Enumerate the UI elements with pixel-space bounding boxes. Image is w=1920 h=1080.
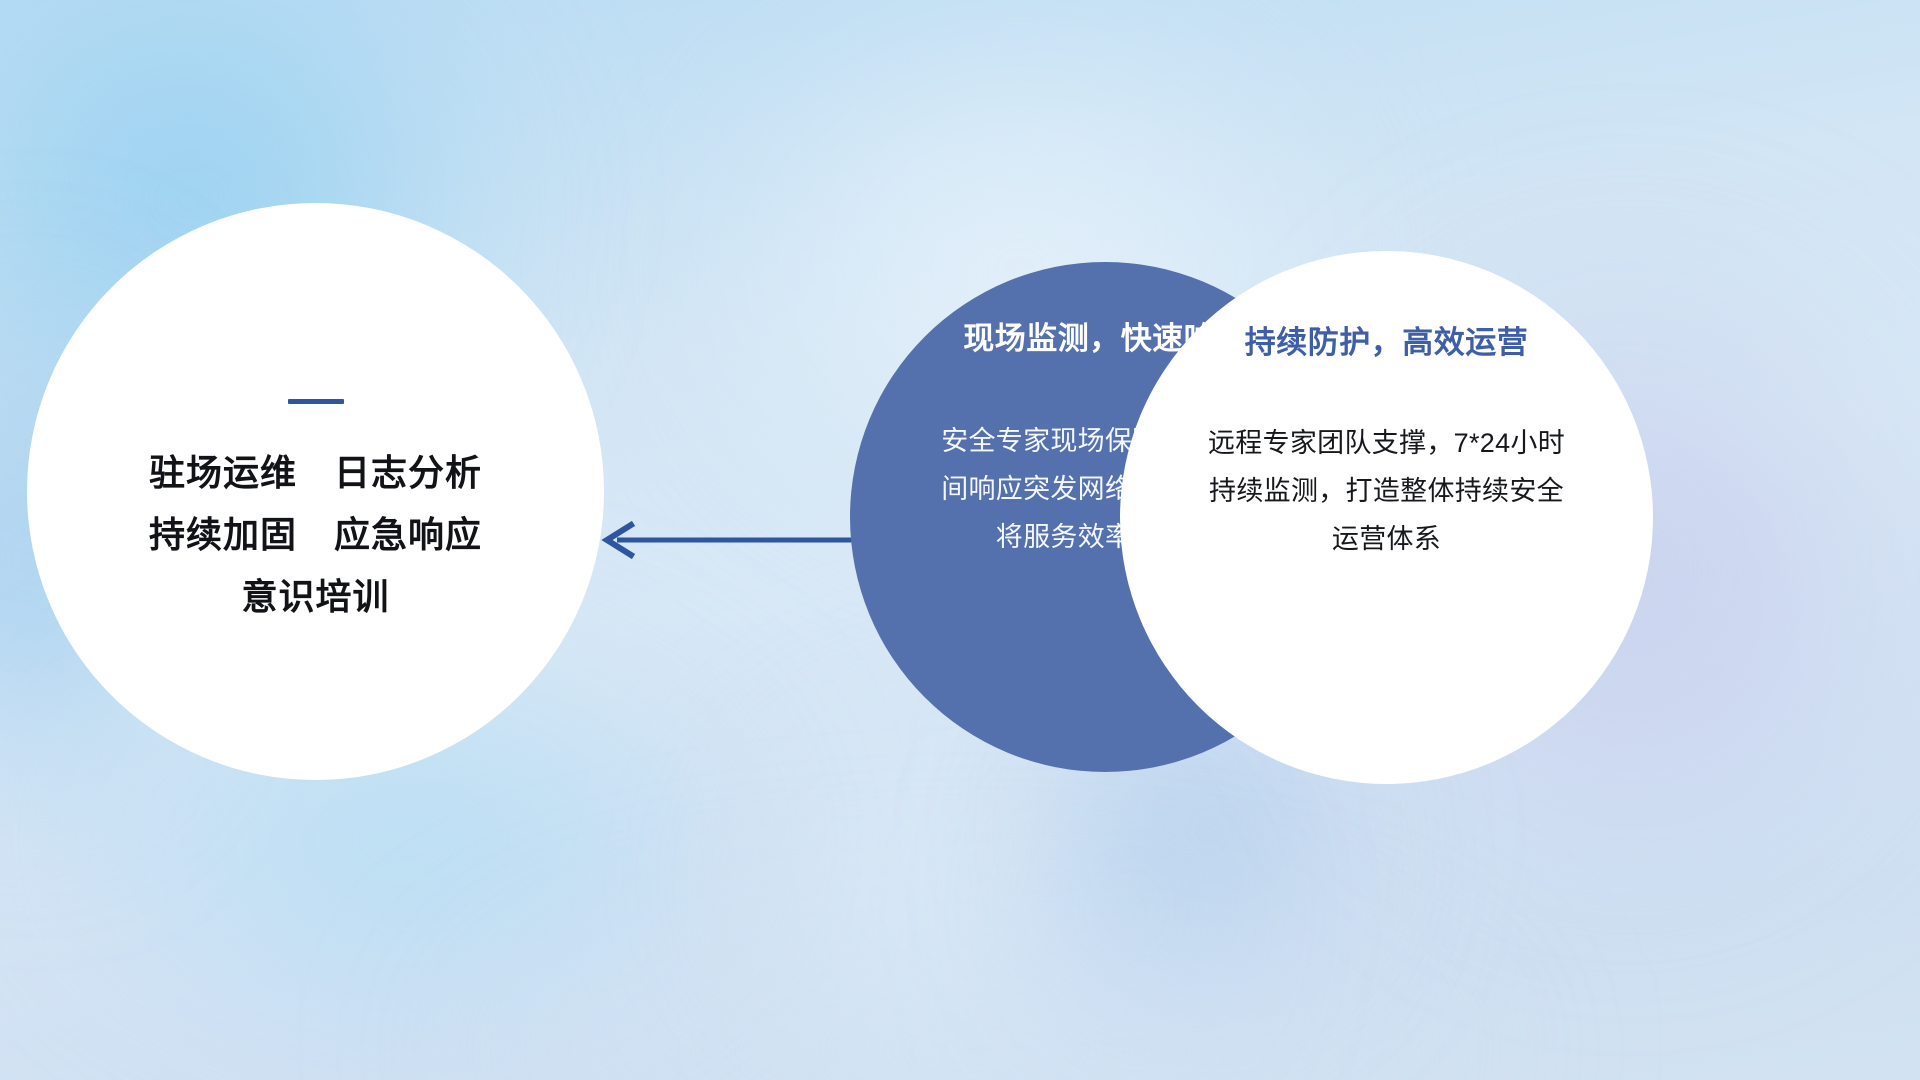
keyword-row-2: 持续加固 应急响应: [27, 504, 604, 566]
slide-canvas: 驻场运维 日志分析 持续加固 应急响应 意识培训 现场监测，快速响应 安全专家现…: [0, 0, 1920, 1080]
arrow-left-icon: [607, 525, 873, 555]
keyword-list: 驻场运维 日志分析 持续加固 应急响应 意识培训: [27, 442, 604, 628]
continuous-protection-circle: 持续防护，高效运营 远程专家团队支撑，7*24小时持续监测，打造整体持续安全运营…: [1120, 251, 1653, 784]
keyword-row-1: 驻场运维 日志分析: [27, 442, 604, 504]
continuous-protection-body: 远程专家团队支撑，7*24小时持续监测，打造整体持续安全运营体系: [1201, 419, 1573, 563]
accent-divider: [288, 399, 344, 404]
continuous-protection-title: 持续防护，高效运营: [1245, 323, 1529, 363]
keywords-circle: 驻场运维 日志分析 持续加固 应急响应 意识培训: [27, 203, 604, 780]
connector-arrow: [595, 516, 875, 564]
keyword-row-3: 意识培训: [27, 566, 604, 628]
